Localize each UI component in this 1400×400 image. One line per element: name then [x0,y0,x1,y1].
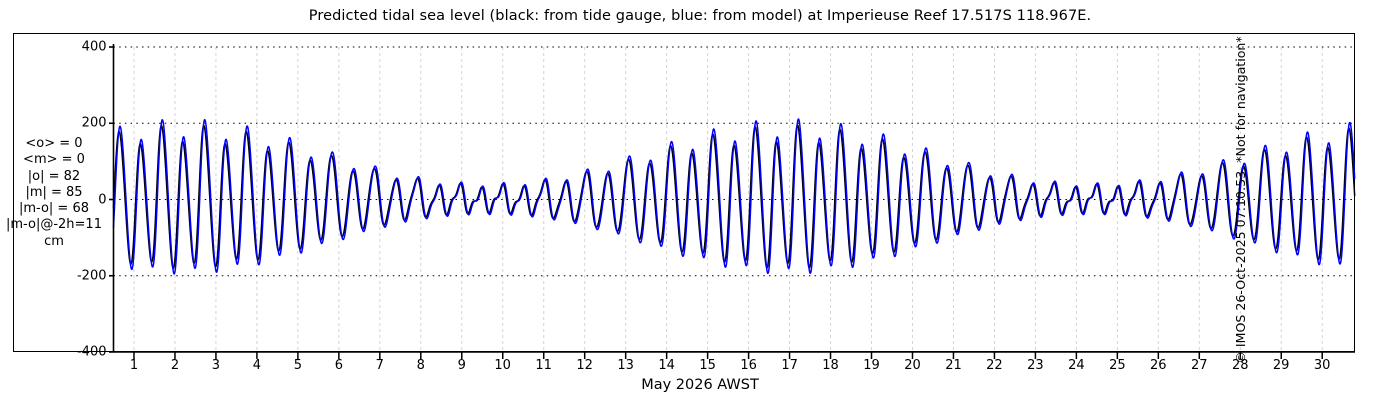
x-tick-label: 26 [1150,358,1167,373]
x-tick-label: 21 [945,358,962,373]
x-tick-label: 11 [535,358,552,373]
x-tick-label: 24 [1068,358,1085,373]
x-tick-label: 1 [130,358,138,373]
y-tick-label: 400 [0,40,107,55]
x-axis-title: May 2026 AWST [0,377,1400,393]
horizontal-gridlines [114,47,1356,352]
x-tick-label: 10 [494,358,511,373]
x-tick-label: 9 [458,358,466,373]
x-tick-label: 17 [781,358,798,373]
y-tick-label: 0 [0,192,107,207]
y-tick-label: -400 [0,345,107,360]
x-tick-label: 14 [658,358,675,373]
x-tick-label: 6 [335,358,343,373]
y-tick-label: -200 [0,268,107,283]
x-tick-label: 7 [376,358,384,373]
x-tick-label: 16 [740,358,757,373]
x-tick-label: 19 [863,358,880,373]
copyright-notice: © IMOS 26-Oct-2025 07:10:53. *Not for na… [1233,36,1248,363]
y-tick-label: 200 [0,116,107,131]
x-tick-label: 3 [212,358,220,373]
x-tick-label: 25 [1109,358,1126,373]
x-tick-label: 30 [1314,358,1331,373]
x-tick-label: 27 [1191,358,1208,373]
x-tick-label: 20 [904,358,921,373]
x-tick-label: 23 [1027,358,1044,373]
tide-plot-area [0,0,1400,400]
x-tick-label: 4 [253,358,261,373]
x-tick-label: 13 [617,358,634,373]
x-tick-label: 5 [294,358,302,373]
x-tick-label: 15 [699,358,716,373]
x-tick-label: 8 [417,358,425,373]
x-tick-label: 18 [822,358,839,373]
x-tick-label: 2 [171,358,179,373]
x-tick-label: 12 [576,358,593,373]
x-tick-label: 29 [1273,358,1290,373]
series-line-from-model [114,119,1355,274]
x-tick-label: 22 [986,358,1003,373]
tidal-chart-figure: Predicted tidal sea level (black: from t… [0,0,1400,400]
